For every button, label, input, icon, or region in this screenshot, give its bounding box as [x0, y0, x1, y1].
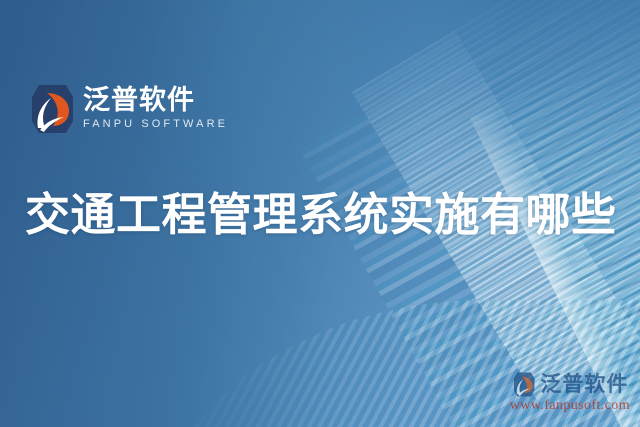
watermark-fanpu-hexagon-leaf-icon: [511, 372, 535, 397]
promo-banner: 泛普软件 FANPU SOFTWARE 交通工程管理系统实施有哪些 泛普软件 w…: [0, 0, 640, 427]
brand-name-en: FANPU SOFTWARE: [83, 117, 228, 132]
page-title: 交通工程管理系统实施有哪些: [25, 189, 620, 241]
watermark: 泛普软件 www.fanpusoft.com: [510, 372, 630, 415]
brand-logo: 泛普软件 FANPU SOFTWARE: [26, 84, 228, 134]
fanpu-hexagon-leaf-icon: [26, 84, 74, 134]
watermark-brand-name: 泛普软件: [540, 374, 628, 395]
watermark-logo-row: 泛普软件: [511, 372, 628, 397]
brand-wordmark: 泛普软件 FANPU SOFTWARE: [83, 86, 228, 133]
watermark-url: www.fanpusoft.com: [510, 398, 630, 415]
brand-name-cn: 泛普软件: [83, 86, 228, 115]
